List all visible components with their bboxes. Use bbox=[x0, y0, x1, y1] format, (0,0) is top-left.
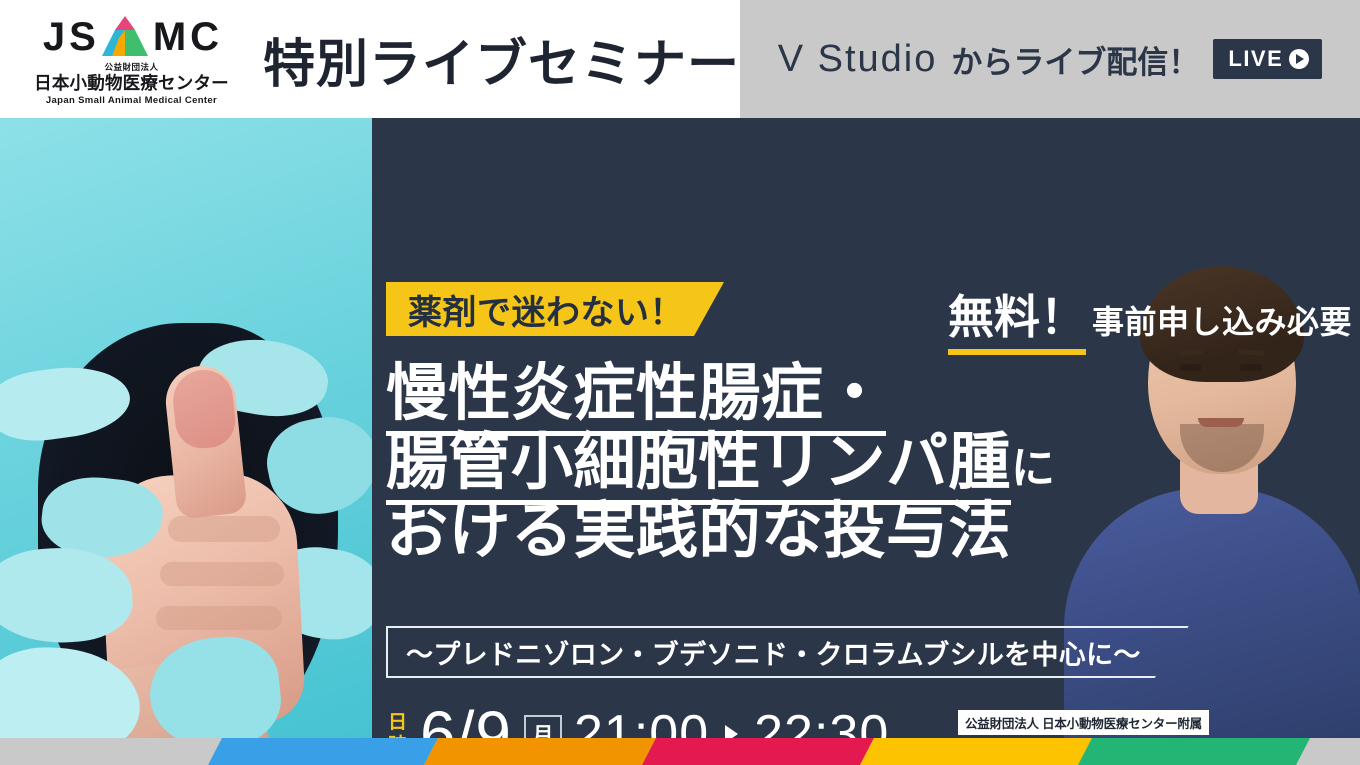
free-headline: 無料！ bbox=[948, 281, 1086, 355]
color-segment-green bbox=[1078, 738, 1310, 765]
logo-name-jp: 日本小動物医療センター bbox=[34, 73, 229, 93]
logo-triangle-icon bbox=[102, 16, 148, 56]
header-right-section: V Studio からライブ配信！ LIVE bbox=[740, 0, 1360, 118]
date-label-char-1: 日 bbox=[388, 711, 408, 734]
color-segment-orange bbox=[424, 738, 656, 765]
event-time-end: 22:30 bbox=[754, 709, 889, 738]
logo-letter-c: C bbox=[190, 18, 220, 56]
broadcast-text: からライブ配信！ bbox=[951, 37, 1199, 82]
color-segment-yellow bbox=[860, 738, 1092, 765]
title-line-1: 慢性炎症性腸症・ bbox=[386, 362, 1055, 425]
hero-stage: 薬剤で迷わない！ 無料！ 事前申し込み必要 慢性炎症性腸症・ 腸管小細胞性リンパ… bbox=[0, 118, 1360, 738]
live-badge-label: LIVE bbox=[1228, 46, 1283, 72]
color-segment-pink bbox=[642, 738, 874, 765]
title-line-3: おける実践的な投与法 bbox=[386, 500, 1055, 563]
play-circle-icon bbox=[1289, 49, 1309, 69]
free-detail: 事前申し込み必要 bbox=[1092, 297, 1352, 343]
color-segment-blue bbox=[208, 738, 438, 765]
speaker-eye bbox=[1240, 364, 1262, 371]
free-notice: 無料！ 事前申し込み必要 bbox=[948, 281, 1352, 355]
event-time-start: 21:00 bbox=[574, 709, 709, 738]
date-label: 日 時 bbox=[388, 711, 408, 738]
catchphrase-tag: 薬剤で迷わない！ bbox=[386, 282, 724, 336]
speaker-mouth bbox=[1198, 418, 1244, 427]
date-time-row: 日 時 6/9 月 21:00 22:30 bbox=[388, 704, 889, 738]
hand-knuckle bbox=[168, 516, 280, 542]
thumbs-up-torn-paper-photo bbox=[0, 118, 372, 738]
seminar-title: 慢性炎症性腸症・ 腸管小細胞性リンパ腫に おける実践的な投与法 bbox=[386, 362, 1055, 570]
title-line-1-text: 慢性炎症性腸症・ bbox=[386, 359, 886, 436]
title-line-2-text: 腸管小細胞性リンパ腫 bbox=[386, 428, 1011, 505]
catchphrase-text: 薬剤で迷わない！ bbox=[408, 285, 684, 334]
seminar-banner: J S M C 公益財団法人 日本小動物医療 bbox=[0, 0, 1360, 765]
bottom-color-bar bbox=[0, 738, 1360, 765]
title-line-2: 腸管小細胞性リンパ腫に bbox=[386, 431, 1055, 494]
logo-foundation-label: 公益財団法人 bbox=[104, 61, 158, 73]
seminar-subtitle-text: 〜プレドニゾロン・ブデソニド・クロラムブシルを中心に〜 bbox=[406, 633, 1141, 672]
vstudio-logo-text: V Studio bbox=[778, 38, 938, 81]
speaker-eye bbox=[1180, 364, 1202, 371]
logo-letter-s: S bbox=[69, 18, 97, 56]
seminar-subtitle-box: 〜プレドニゾロン・ブデソニド・クロラムブシルを中心に〜 bbox=[386, 626, 1189, 678]
hand-knuckle bbox=[156, 606, 282, 630]
speaker-credentials: 公益財団法人 日本小動物医療センター附属 小動物消化器センター センター長 中島… bbox=[958, 710, 1208, 738]
header-left-section: J S M C 公益財団法人 日本小動物医療 bbox=[0, 0, 740, 118]
live-badge: LIVE bbox=[1213, 39, 1322, 79]
speaker-affiliation-line-1: 公益財団法人 日本小動物医療センター附属 bbox=[958, 710, 1209, 735]
seminar-type-title: 特別ライブセミナー bbox=[263, 22, 740, 97]
event-weekday: 月 bbox=[524, 715, 562, 738]
title-line-3-text: おける実践的な投与法 bbox=[386, 497, 1011, 566]
jsamc-logo: J S M C 公益財団法人 日本小動物医療 bbox=[26, 12, 237, 106]
logo-name-en: Japan Small Animal Medical Center bbox=[46, 95, 217, 106]
speaker-scrubs bbox=[1064, 488, 1360, 738]
title-line-2-suffix: に bbox=[1011, 444, 1055, 493]
event-date: 6/9 bbox=[420, 704, 512, 738]
banner-header: J S M C 公益財団法人 日本小動物医療 bbox=[0, 0, 1360, 118]
logo-letter-m: M bbox=[153, 18, 187, 56]
time-separator-icon bbox=[725, 725, 738, 738]
logo-letter-j: J bbox=[43, 18, 66, 56]
logo-mark: J S M C bbox=[43, 12, 220, 56]
hand-knuckle bbox=[160, 562, 284, 586]
